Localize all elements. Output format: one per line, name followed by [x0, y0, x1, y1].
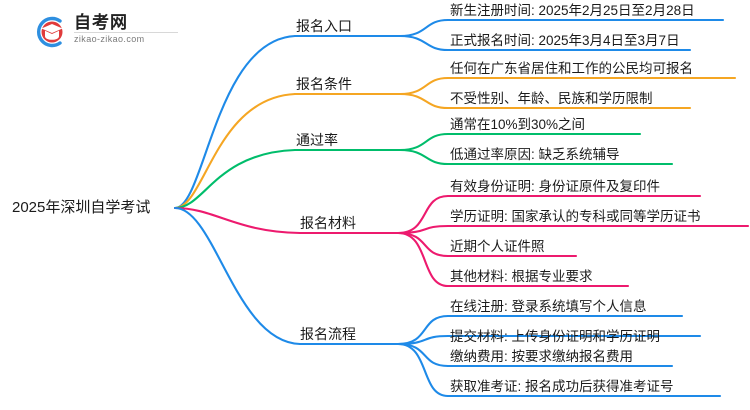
leaf-label-4-3[interactable]: 近期个人证件照: [450, 239, 545, 255]
leaf-label-4-1[interactable]: 有效身份证明: 身份证原件及复印件: [450, 179, 660, 195]
leaf-label-5-2[interactable]: 提交材料: 上传身份证明和学历证明: [450, 329, 660, 345]
leaf-label-5-4[interactable]: 获取准考证: 报名成功后获得准考证号: [450, 379, 674, 395]
leaf-label-1-1[interactable]: 新生注册时间: 2025年2月25日至2月28日: [450, 3, 695, 19]
mindmap-canvas: 自考网 zikao-zikao.com: [0, 0, 750, 410]
leaf-label-3-2[interactable]: 低通过率原因: 缺乏系统辅导: [450, 147, 620, 163]
branch-label-2[interactable]: 报名条件: [296, 76, 352, 93]
leaf-label-2-1[interactable]: 任何在广东省居住和工作的公民均可报名: [450, 61, 693, 77]
branch-label-1[interactable]: 报名入口: [296, 18, 352, 35]
leaf-label-5-1[interactable]: 在线注册: 登录系统填写个人信息: [450, 299, 647, 315]
branch-label-5[interactable]: 报名流程: [300, 326, 356, 343]
root-node-label[interactable]: 2025年深圳自学考试: [12, 199, 150, 217]
branch-label-3[interactable]: 通过率: [296, 132, 338, 149]
leaf-label-4-4[interactable]: 其他材料: 根据专业要求: [450, 269, 593, 285]
leaf-label-5-3[interactable]: 缴纳费用: 按要求缴纳报名费用: [450, 349, 633, 365]
branch-label-4[interactable]: 报名材料: [300, 215, 356, 232]
leaf-label-1-2[interactable]: 正式报名时间: 2025年3月4日至3月7日: [450, 33, 680, 49]
leaf-label-3-1[interactable]: 通常在10%到30%之间: [450, 117, 585, 133]
leaf-label-4-2[interactable]: 学历证明: 国家承认的专科或同等学历证书: [450, 209, 701, 225]
leaf-label-2-2[interactable]: 不受性别、年龄、民族和学历限制: [450, 91, 653, 107]
